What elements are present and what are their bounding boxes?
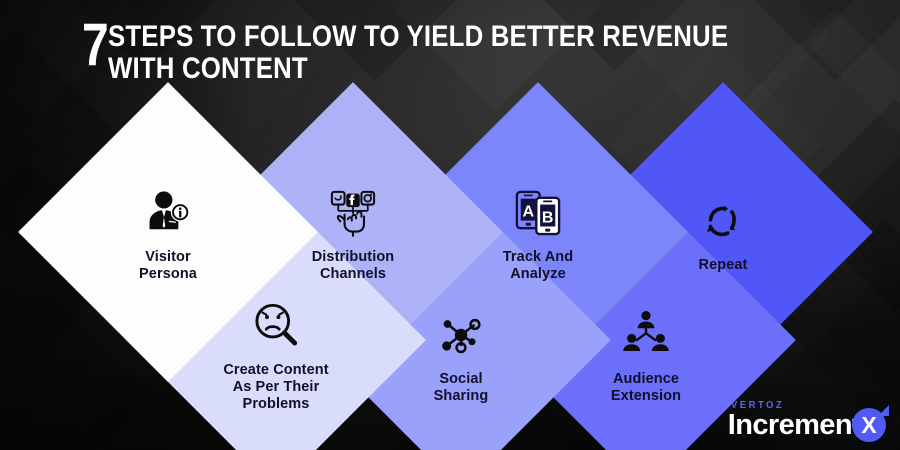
logo-x-badge-icon: X bbox=[852, 408, 886, 442]
logo-vertoz-text: VERTOZ bbox=[731, 400, 784, 411]
page-title: 7 STEPS TO FOLLOW TO YIELD BETTER REVENU… bbox=[82, 17, 842, 85]
infographic-canvas: 7 STEPS TO FOLLOW TO YIELD BETTER REVENU… bbox=[0, 0, 900, 450]
logo-text: VERTOZ Increment bbox=[728, 400, 861, 440]
step-label: Audience Extension bbox=[611, 371, 681, 405]
step-count-number: 7 bbox=[82, 17, 108, 72]
brand-logo[interactable]: VERTOZ Increment X bbox=[728, 400, 886, 440]
logo-product-text: Increment bbox=[728, 412, 861, 440]
hand-social-channels-icon bbox=[322, 182, 384, 244]
step-label: Visitor Persona bbox=[139, 249, 197, 283]
title-text: STEPS TO FOLLOW TO YIELD BETTER REVENUE … bbox=[108, 17, 728, 85]
user-persona-info-icon bbox=[137, 182, 199, 244]
svg-text:B: B bbox=[542, 208, 554, 226]
step-label: Create Content As Per Their Problems bbox=[223, 362, 328, 412]
circular-arrows-repeat-icon bbox=[692, 190, 754, 252]
ab-test-phones-icon: A B bbox=[507, 182, 569, 244]
logo-x-letter: X bbox=[852, 408, 886, 442]
svg-text:A: A bbox=[523, 202, 535, 220]
step-label: Social Sharing bbox=[434, 371, 489, 405]
step-content-visitor-persona: Visitor Persona bbox=[62, 126, 274, 338]
